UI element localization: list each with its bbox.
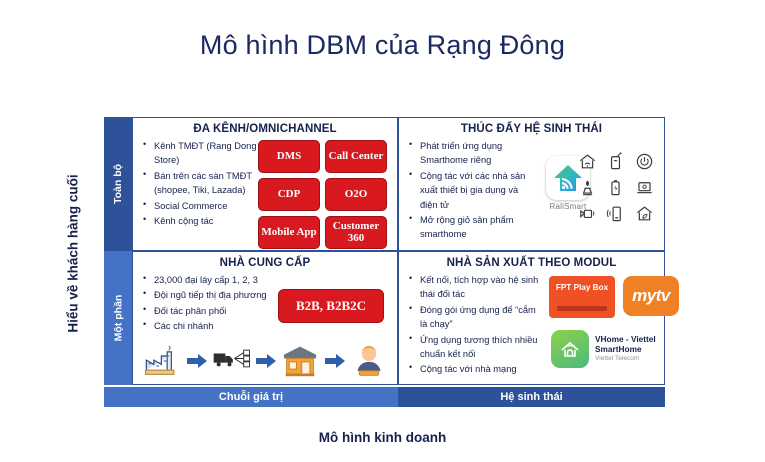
row-band-partial: Một phần [104, 251, 132, 385]
arrow-right-icon [324, 350, 346, 372]
list-item: Kênh cộng tác [143, 214, 271, 228]
quadrant-ecosystem-title: THÚC ĐẨY HỆ SINH THÁI [399, 123, 664, 135]
list-item: Các chi nhánh [143, 319, 293, 333]
power-button-icon [633, 150, 655, 172]
list-item: Ứng dụng tương thích nhiều chuẩn kết nối [409, 333, 541, 362]
smart-phone-signal-icon [605, 202, 627, 224]
quadrant-supplier-title: NHÀ CUNG CẤP [133, 257, 397, 269]
capability-box-mobile-app[interactable]: Mobile App [258, 216, 320, 249]
arrow-right-icon [255, 350, 277, 372]
capability-box-o2o[interactable]: O2O [325, 178, 387, 211]
retail-store-icon [278, 341, 322, 381]
page-title: Mô hình DBM của Rạng Đông [0, 30, 765, 61]
vhome-subtitle: Viettel Telecom [595, 355, 656, 363]
list-item: Cộng tác với nhà mạng [409, 362, 541, 376]
smart-switch-icon [605, 150, 627, 172]
list-item: Đóng gói ứng dụng để “cắm là chạy” [409, 303, 541, 332]
omnichannel-capability-grid: DMS Call Center CDP O2O Mobile App Custo… [258, 140, 390, 249]
list-item: Cộng tác với các nhà sản xuất thiết bị g… [409, 169, 537, 212]
row-band-partial-label: Một phần [112, 295, 124, 342]
capability-box-cdp[interactable]: CDP [258, 178, 320, 211]
partner-logo-mytv-label: mytv [632, 286, 670, 306]
smart-lamp-icon [576, 176, 598, 198]
smart-device-icon-grid [576, 150, 658, 224]
partner-logo-vhome[interactable]: VHome - Viettel SmartHome Viettel Teleco… [551, 330, 656, 368]
vhome-name-line2: SmartHome [595, 345, 656, 355]
bottom-bar-value-chain: Chuỗi giá trị [104, 387, 398, 407]
b2b-model-box[interactable]: B2B, B2B2C [278, 289, 384, 323]
quadrant-supplier: NHÀ CUNG CẤP 23,000 đại láy cấp 1, 2, 3 … [132, 251, 398, 385]
partner-logo-fpt-play-box-label: FPT Play Box [556, 283, 608, 292]
vhome-text-block: VHome - Viettel SmartHome Viettel Teleco… [595, 335, 656, 363]
bottom-axis-bars: Chuỗi giá trị Hệ sinh thái [104, 387, 665, 407]
module-bullet-list: Kết nối, tích hợp vào hệ sinh thái đối t… [399, 273, 541, 377]
ecosystem-bullet-list: Phát triển ứng dụng Smarthome riêng Cộng… [399, 139, 537, 242]
row-band-full: Toàn bộ [104, 117, 132, 251]
x-axis-label: Mô hình kinh doanh [0, 430, 765, 445]
eco-home-leaf-icon [633, 202, 655, 224]
smart-home-wifi-icon [576, 150, 598, 172]
list-item: Đội ngũ tiếp thị địa phương [143, 288, 293, 302]
quadrant-module-manufacturer-title: NHÀ SẢN XUẤT THEO MODUL [399, 257, 664, 269]
omnichannel-bullet-list: Kênh TMĐT (Rang Dong Store) Bán trên các… [133, 139, 271, 228]
matrix-grid: Toàn bộ Một phần ĐA KÊNH/OMNICHANNEL Kên… [104, 117, 665, 385]
smart-laptop-icon [633, 176, 655, 198]
vhome-smart-home-icon [551, 330, 589, 368]
slide-canvas: Mô hình DBM của Rạng Đông Hiểu về khách … [0, 0, 765, 462]
quadrant-omnichannel: ĐA KÊNH/OMNICHANNEL Kênh TMĐT (Rang Dong… [132, 117, 398, 251]
capability-box-dms[interactable]: DMS [258, 140, 320, 173]
capability-box-customer-360[interactable]: Customer 360 [325, 216, 387, 249]
list-item: Kênh TMĐT (Rang Dong Store) [143, 139, 271, 168]
supplier-bullet-list: 23,000 đại láy cấp 1, 2, 3 Đội ngũ tiếp … [133, 273, 293, 334]
customer-icon [347, 341, 391, 381]
partner-logo-fpt-play-box[interactable]: FPT Play Box [549, 276, 615, 318]
list-item: Bán trên các sàn TMĐT (shopee, Tiki, Laz… [143, 169, 271, 198]
capability-box-call-center[interactable]: Call Center [325, 140, 387, 173]
smart-speaker-icon [576, 202, 598, 224]
quadrant-module-manufacturer: NHÀ SẢN XUẤT THEO MODUL Kết nối, tích hợ… [398, 251, 665, 385]
y-axis-label: Hiểu về khách hàng cuối [58, 118, 88, 388]
list-item: Phát triển ứng dụng Smarthome riêng [409, 139, 537, 168]
smart-battery-icon [605, 176, 627, 198]
delivery-truck-icon [210, 341, 254, 381]
row-band-full-label: Toàn bộ [112, 164, 124, 204]
partner-logo-mytv[interactable]: mytv [623, 276, 679, 316]
list-item: Social Commerce [143, 199, 271, 213]
list-item: Kết nối, tích hợp vào hệ sinh thái đối t… [409, 273, 541, 302]
list-item: 23,000 đại láy cấp 1, 2, 3 [143, 273, 293, 287]
factory-icon [141, 341, 185, 381]
list-item: Đối tác phân phối [143, 304, 293, 318]
bottom-bar-ecosystem: Hệ sinh thái [398, 387, 665, 407]
y-axis-label-text: Hiểu về khách hàng cuối [66, 174, 81, 332]
quadrant-ecosystem: THÚC ĐẨY HỆ SINH THÁI Phát triển ứng dụn… [398, 117, 665, 251]
value-chain-flow [141, 340, 391, 382]
fpt-logo-bar [557, 306, 607, 311]
quadrant-omnichannel-title: ĐA KÊNH/OMNICHANNEL [133, 123, 397, 135]
list-item: Mở rộng giỏ sản phẩm smarthome [409, 213, 537, 242]
arrow-right-icon [186, 350, 208, 372]
